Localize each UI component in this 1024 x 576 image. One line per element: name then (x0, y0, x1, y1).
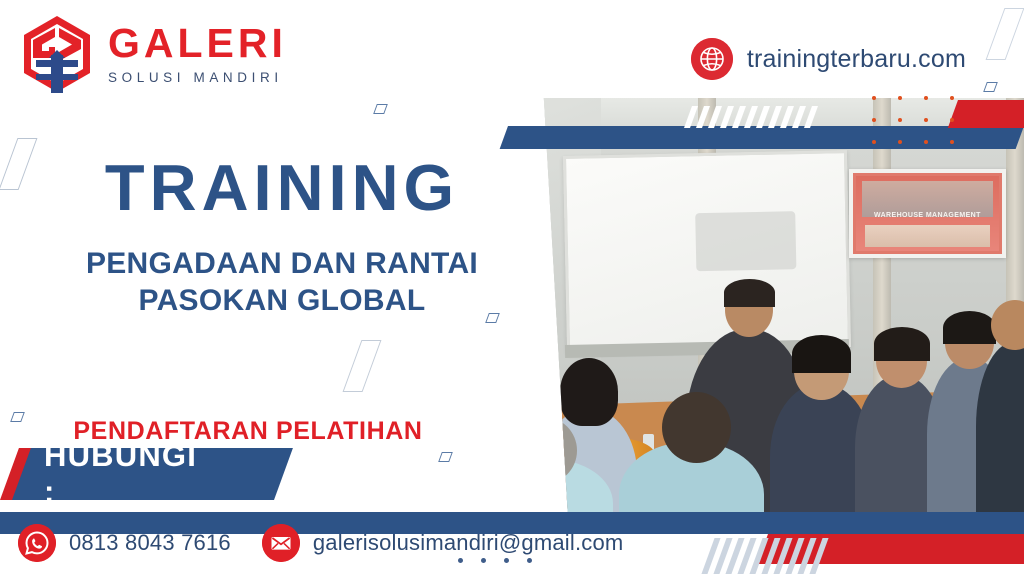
decor-parallelogram (10, 412, 25, 422)
decor-bar-red-top (948, 100, 1024, 128)
decor-stripes-top-bar (684, 106, 818, 128)
headline-kicker: TRAINING (72, 155, 492, 220)
headline-block: TRAINING PENGADAAN DAN RANTAI PASOKAN GL… (72, 155, 492, 319)
contact-whatsapp[interactable]: 0813 8043 7616 (18, 524, 231, 562)
website-badge[interactable]: trainingterbaru.com (691, 38, 966, 80)
training-classroom-photo: WAREHOUSE MANAGEMENT (420, 98, 1024, 518)
projector-slide: WAREHOUSE MANAGEMENT (849, 169, 1006, 257)
headline-subject-line1: PENGADAAN DAN RANTAI (72, 246, 492, 283)
decor-dot-grid (872, 96, 954, 144)
decor-stripes-bottom (701, 538, 828, 574)
brand-logo: GALERI SOLUSI MANDIRI (18, 14, 287, 94)
gs-hexagon-monogram-icon (18, 14, 96, 94)
decor-parallelogram (986, 8, 1024, 60)
decor-parallelogram (0, 138, 37, 190)
headline-subject-line2: PASOKAN GLOBAL (72, 283, 492, 320)
contact-email[interactable]: galerisolusimandiri@gmail.com (262, 524, 624, 562)
cta-label: HUBUNGI : (44, 448, 197, 500)
decor-parallelogram (343, 340, 382, 392)
decor-parallelogram (438, 452, 453, 462)
contact-whatsapp-value[interactable]: 0813 8043 7616 (69, 530, 231, 556)
whatsapp-icon (18, 524, 56, 562)
website-url[interactable]: trainingterbaru.com (747, 45, 966, 74)
brand-tagline: SOLUSI MANDIRI (108, 71, 287, 85)
contact-list: 0813 8043 7616 galerisolusimandiri@gmail… (18, 524, 623, 562)
projector-slide-text: WAREHOUSE MANAGEMENT (853, 212, 1002, 219)
headline-subject: PENGADAAN DAN RANTAI PASOKAN GLOBAL (72, 246, 492, 319)
decor-parallelogram (983, 82, 998, 92)
decor-parallelogram (373, 104, 388, 114)
decor-footer-dots (458, 558, 532, 563)
envelope-icon (262, 524, 300, 562)
brand-name: GALERI (108, 23, 287, 64)
contact-email-value[interactable]: galerisolusimandiri@gmail.com (313, 530, 624, 556)
globe-icon (691, 38, 733, 80)
poster-canvas: GALERI SOLUSI MANDIRI trainingterbaru.co… (0, 0, 1024, 576)
